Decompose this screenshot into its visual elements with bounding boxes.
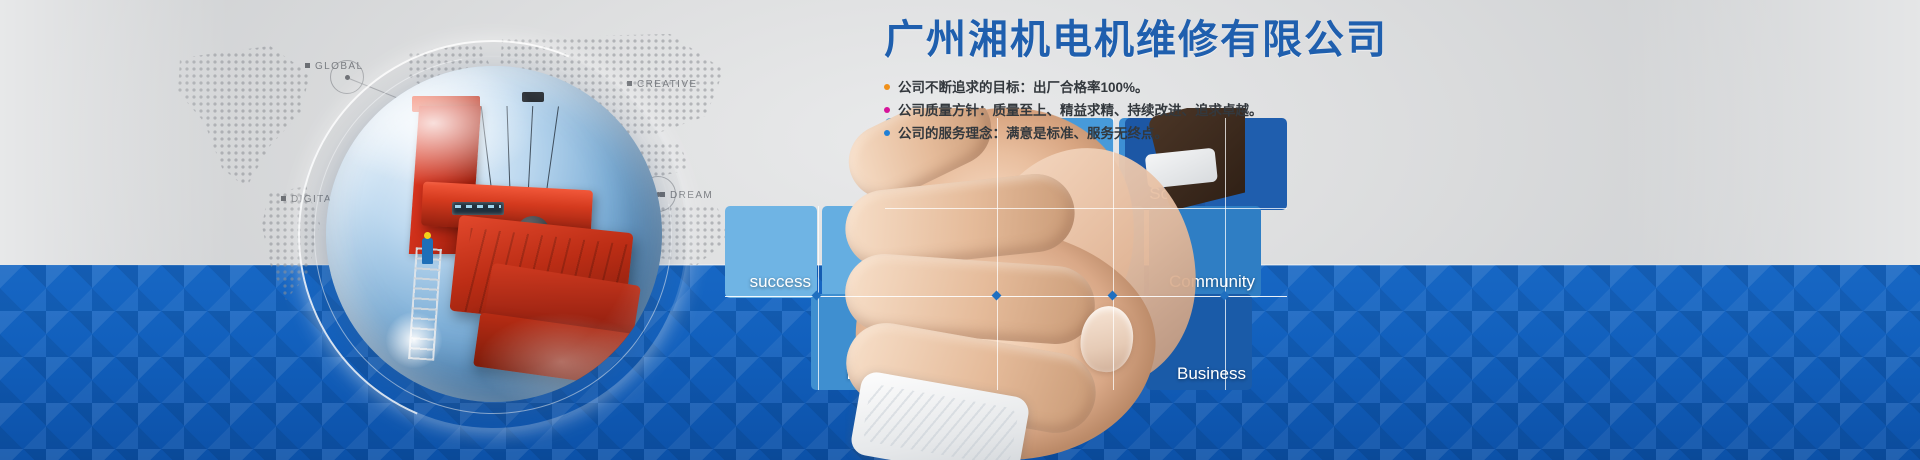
bullet-list: 公司不断追求的目标：出厂合格率100%。 公司质量方针：质量至上、精益求精、持续…: [884, 76, 1524, 146]
glass-sphere-illustration: [298, 40, 688, 430]
bullet-item-1: 公司不断追求的目标：出厂合格率100%。: [884, 76, 1524, 99]
bullet-dot-icon-1: [884, 84, 890, 90]
glass-sphere: [326, 66, 662, 402]
bullet-text-3: 公司的服务理念：满意是标准、服务无终点。: [898, 122, 1168, 145]
sphere-light-flare: [386, 312, 442, 368]
bullet-dot-icon-2: [884, 107, 890, 113]
crane-hook: [522, 92, 544, 102]
right-edge-fade: [1620, 0, 1920, 265]
bullet-text-2: 公司质量方针：质量至上、精益求精、持续改进、追求卓越。: [898, 99, 1263, 122]
tile-success: success: [725, 206, 817, 298]
bullet-item-2: 公司质量方针：质量至上、精益求精、持续改进、追求卓越。: [884, 99, 1524, 122]
company-banner: GLOBAL CREATIVE DIGITAL DREAM: [0, 0, 1920, 460]
handshake-photo: [845, 108, 1245, 460]
company-title: 广州湘机电机维修有限公司: [884, 18, 1524, 63]
tile-label-success: success: [750, 272, 817, 298]
bullet-item-3: 公司的服务理念：满意是标准、服务无终点。: [884, 122, 1524, 145]
crane-cables: [478, 106, 570, 192]
square-marker-icon: [281, 196, 286, 201]
bullet-text-1: 公司不断追求的目标：出厂合格率100%。: [898, 76, 1149, 99]
machinery-photo: [326, 66, 662, 402]
worker-figure: [422, 238, 433, 264]
company-text-block: 广州湘机电机维修有限公司 公司不断追求的目标：出厂合格率100%。 公司质量方针…: [884, 18, 1524, 145]
crane-cabin-window: [452, 202, 504, 215]
bullet-dot-icon-3: [884, 130, 890, 136]
